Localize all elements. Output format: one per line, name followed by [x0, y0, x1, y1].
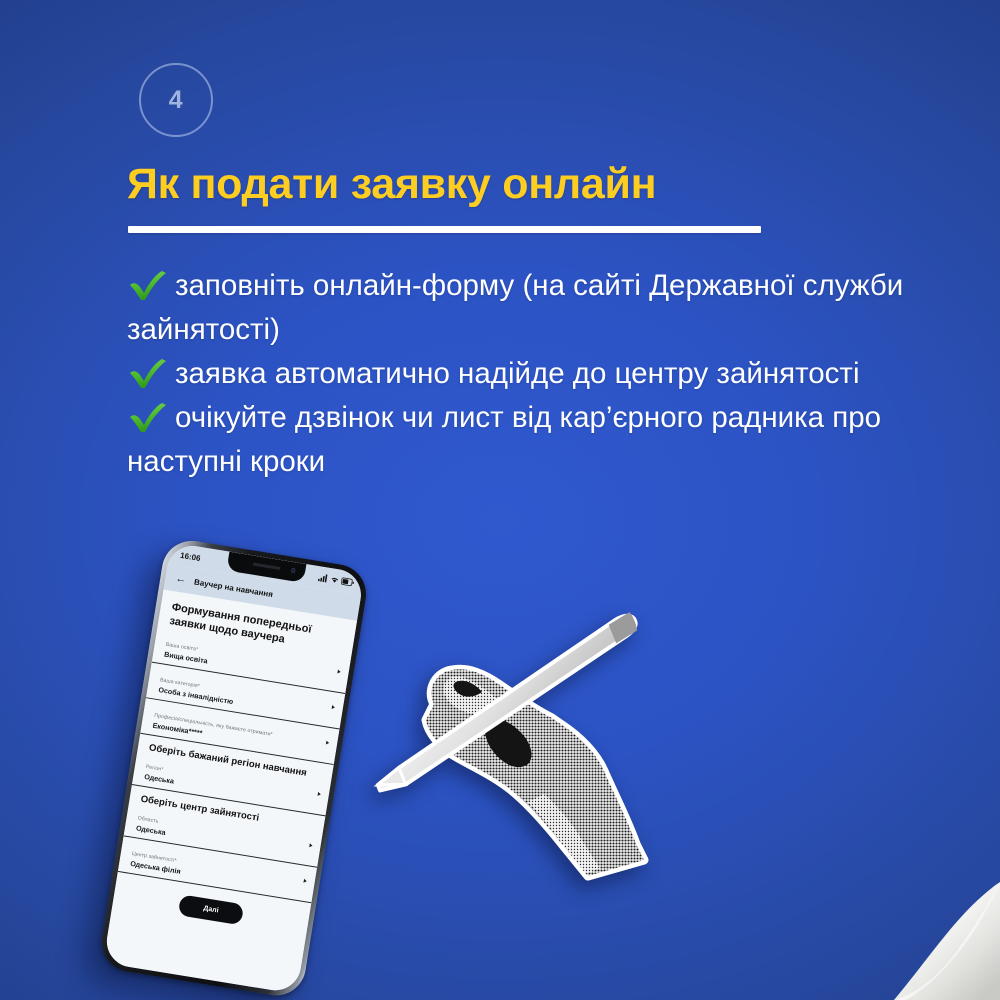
chevron-right-icon: [326, 741, 330, 745]
list-item-label: заповніть онлайн-форму (на сайті Державн…: [127, 269, 903, 346]
battery-icon: [341, 577, 355, 587]
green-check-icon: [127, 403, 171, 433]
chevron-right-icon: [303, 879, 307, 883]
signal-icon: [318, 573, 328, 582]
app-bar-title: Ваучер на навчання: [194, 577, 274, 599]
phone-frame: 16:06 ← Ваучер на навчання: [97, 536, 370, 999]
hand-shape: [426, 669, 644, 876]
list-item: заповніть онлайн-форму (на сайті Державн…: [127, 264, 917, 352]
title-divider: [128, 226, 761, 233]
status-bar-clock: 16:06: [180, 550, 202, 562]
wifi-icon: [329, 575, 339, 584]
slide-canvas: 4 Як подати заявку онлайн заповніть онла…: [0, 0, 1000, 1000]
list-item: очікуйте дзвінок чи лист від кар’єрного …: [127, 396, 917, 484]
chevron-right-icon: [337, 670, 341, 674]
phone-screen: 16:06 ← Ваучер на навчання: [103, 542, 365, 994]
green-check-icon: [127, 359, 171, 389]
step-number-label: 4: [169, 86, 183, 115]
list-item-label: заявка автоматично надійде до центру зай…: [175, 357, 860, 390]
status-bar-icons: [318, 573, 355, 587]
bullet-list: заповніть онлайн-форму (на сайті Державн…: [127, 264, 917, 484]
front-camera: [290, 568, 295, 573]
chevron-right-icon: [332, 705, 336, 709]
page-curl: [888, 882, 1000, 1000]
list-item: заявка автоматично надійде до центру зай…: [127, 352, 917, 396]
earpiece-speaker: [253, 563, 281, 570]
green-check-icon: [127, 271, 171, 301]
list-item-label: очікуйте дзвінок чи лист від кар’єрного …: [127, 401, 881, 478]
hand-holding-pen-illustration: [348, 608, 668, 898]
chevron-right-icon: [318, 792, 322, 796]
next-button[interactable]: Далі: [178, 894, 244, 925]
form-pane: Формування попередньої заявки щодо вауче…: [103, 590, 357, 994]
page-title: Як подати заявку онлайн: [127, 160, 887, 209]
back-arrow-icon[interactable]: ←: [175, 573, 188, 586]
chevron-right-icon: [309, 843, 313, 847]
step-number-badge: 4: [139, 63, 213, 137]
